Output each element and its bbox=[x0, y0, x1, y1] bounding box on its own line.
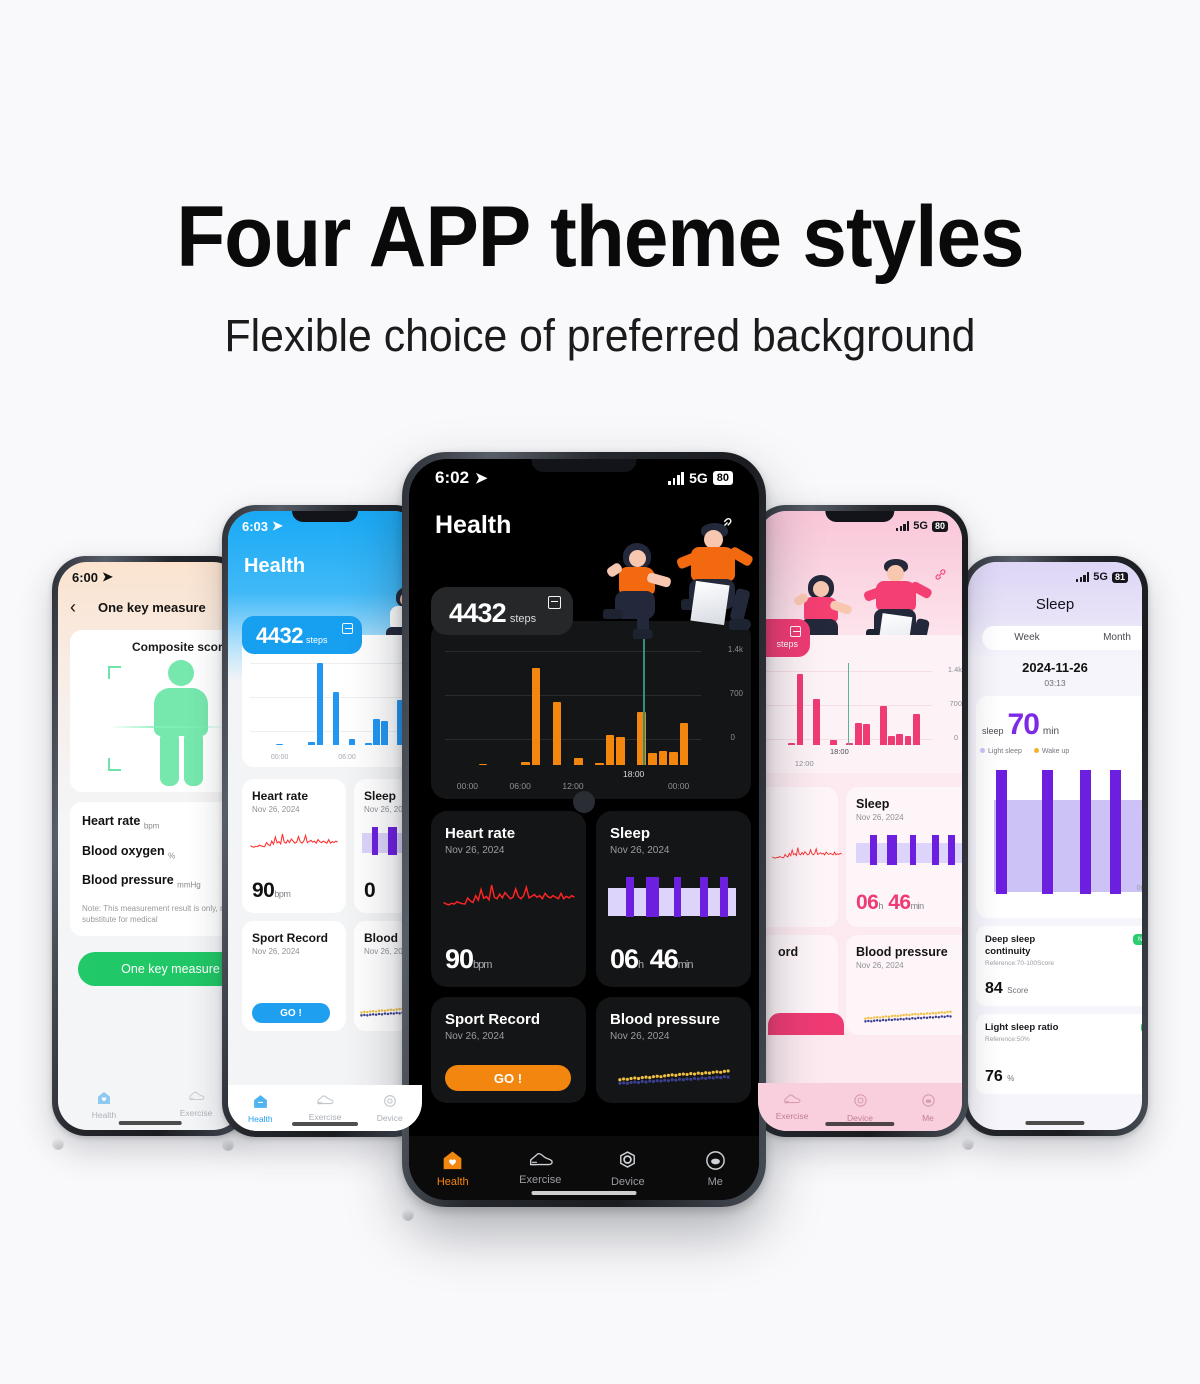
time-marker-line bbox=[643, 639, 645, 765]
card-value: 06h 46min bbox=[856, 891, 924, 915]
status-right: 5G 80 bbox=[896, 520, 948, 532]
camera-punch-hole bbox=[573, 791, 595, 813]
metric-unit: bpm bbox=[144, 822, 160, 831]
steps-bars bbox=[447, 657, 699, 765]
card-sport-record-partial[interactable]: ord bbox=[758, 935, 838, 1035]
signal-bars-icon bbox=[1076, 572, 1089, 582]
card-title: Heart rate bbox=[445, 825, 572, 842]
scan-line bbox=[108, 726, 228, 728]
value-number: 90 bbox=[445, 944, 473, 974]
bar bbox=[365, 743, 372, 745]
watch-icon bbox=[382, 1093, 398, 1109]
unit-hours: h bbox=[638, 959, 643, 971]
bar bbox=[888, 736, 895, 745]
metric-row: Blood pressure mmHg bbox=[82, 873, 242, 890]
sleep-bar bbox=[1042, 770, 1053, 894]
unit-minutes: min bbox=[678, 959, 693, 971]
steps-unit: steps bbox=[510, 613, 536, 625]
steps-chart[interactable]: 1.4k 700 0 18:00 00:00 06:00 12:00 00:00 bbox=[431, 621, 751, 799]
card-blood-pressure[interactable]: Blood pressure Nov 26, 2024 bbox=[846, 935, 962, 1035]
location-arrow-icon: ➤ bbox=[102, 569, 113, 585]
watch-icon bbox=[616, 1149, 639, 1172]
y-tick: 0 bbox=[954, 733, 958, 742]
sleep-bar bbox=[1110, 770, 1121, 894]
tab-label: Exercise bbox=[180, 1108, 213, 1118]
notch bbox=[292, 511, 358, 522]
card-blood-pressure[interactable]: Blood pressure Nov 26, 2024 bbox=[596, 997, 751, 1103]
card-title: Blood pressure bbox=[856, 945, 962, 959]
card-sport-record[interactable]: Sport Record Nov 26, 2024 GO ! bbox=[431, 997, 586, 1103]
metric-row: Heart rate bpm bbox=[82, 814, 242, 831]
row-value: 76 % bbox=[985, 1068, 1014, 1086]
shoe-icon bbox=[316, 1094, 334, 1108]
card-date: Nov 26, 2024 bbox=[445, 1031, 572, 1042]
tab-health[interactable]: Health bbox=[228, 1093, 293, 1124]
y-tick: 700 bbox=[949, 699, 962, 708]
card-sleep[interactable]: Sleep Nov 26, 2024 06h 46min bbox=[596, 811, 751, 987]
y-tick: 1.4k bbox=[728, 645, 743, 654]
home-heart-icon bbox=[441, 1149, 464, 1172]
bp-dots-icon bbox=[852, 1007, 962, 1029]
scan-bracket-icon bbox=[108, 666, 121, 679]
x-tick: 12:00 bbox=[547, 781, 600, 791]
battery-badge: 80 bbox=[713, 471, 733, 485]
shoe-icon bbox=[188, 1090, 205, 1104]
y-tick: 1.4k bbox=[948, 665, 962, 674]
row-title: Deep sleep continuity bbox=[985, 934, 1081, 958]
steps-unit: steps bbox=[776, 639, 798, 649]
metric-unit: mmHg bbox=[177, 881, 201, 890]
phone-reflection: 6:00 ➤ ‹ One key measure Composite score bbox=[52, 1138, 64, 1150]
x-tick: 00:00 bbox=[652, 781, 705, 791]
metric-name: Blood oxygen bbox=[82, 844, 165, 858]
go-button[interactable] bbox=[768, 1013, 844, 1035]
tab-health[interactable]: Health bbox=[58, 1090, 150, 1120]
chart-legend: Light sleep Wake up bbox=[980, 748, 1069, 755]
sleep-stage-chart: 06:50 bbox=[984, 766, 1142, 898]
bar bbox=[669, 752, 678, 765]
value-hours: 06 bbox=[610, 944, 638, 974]
segment-week[interactable]: Week bbox=[982, 626, 1072, 650]
tab-exercise[interactable]: Exercise bbox=[758, 1093, 826, 1121]
card-heart-rate[interactable]: Heart rate Nov 26, 2024 90bpm bbox=[242, 779, 346, 913]
tab-label: Health bbox=[437, 1176, 469, 1188]
value-number: 76 bbox=[985, 1068, 1003, 1085]
bar bbox=[637, 712, 646, 765]
card-title: Sport Record bbox=[445, 1011, 572, 1028]
bar bbox=[797, 674, 804, 745]
x-tick: 06:50 bbox=[1136, 885, 1142, 892]
home-indicator bbox=[825, 1122, 894, 1126]
steps-summary-pill[interactable]: 4432 steps bbox=[242, 616, 362, 654]
metric-card-grid: Heart rate Nov 26, 2024 90bpm Sleep Nov … bbox=[242, 779, 422, 1031]
sleep-summary: sleep 70 min bbox=[982, 708, 1059, 742]
row-value: 84 Score bbox=[985, 980, 1028, 998]
bar bbox=[479, 764, 488, 766]
signal-bars-icon bbox=[668, 472, 684, 485]
page-title: Health bbox=[244, 555, 305, 578]
tab-label: Me bbox=[708, 1176, 723, 1188]
one-key-measure-button[interactable]: One key measure bbox=[78, 952, 242, 986]
card-date: Nov 26, 2024 bbox=[856, 961, 962, 970]
home-indicator bbox=[532, 1191, 637, 1195]
legend-light-sleep: Light sleep bbox=[980, 748, 1022, 755]
shoe-icon bbox=[783, 1093, 801, 1107]
x-axis-ticks: 00:00 06:00 12:00 00:00 bbox=[441, 781, 705, 791]
tab-me[interactable]: Me bbox=[894, 1092, 962, 1123]
status-badge: High bbox=[1141, 1022, 1142, 1033]
notch bbox=[532, 459, 637, 472]
segment-month[interactable]: Month bbox=[1072, 626, 1142, 650]
measurement-note: Note: This measurement result is only, n… bbox=[82, 903, 242, 926]
export-icon[interactable] bbox=[790, 626, 801, 637]
signal-bars-icon bbox=[896, 521, 909, 531]
phone-reflection: 6:02 ➤ 5G 80 Health bbox=[402, 1209, 414, 1221]
tab-device[interactable]: Device bbox=[584, 1149, 672, 1188]
card-heart-rate-partial[interactable] bbox=[758, 787, 838, 927]
notch bbox=[825, 511, 894, 522]
status-time: 6:02 bbox=[435, 468, 469, 488]
card-date: Nov 26, 2024 bbox=[252, 805, 336, 814]
value-minutes: 46 bbox=[650, 944, 678, 974]
card-title: Sleep bbox=[610, 825, 737, 842]
card-value: 90bpm bbox=[445, 944, 491, 975]
sleep-bars-icon bbox=[608, 877, 736, 917]
legend-label: Light sleep bbox=[988, 748, 1022, 755]
period-segmented-control[interactable]: Week Month bbox=[982, 626, 1142, 650]
person-icon bbox=[920, 1092, 937, 1109]
steps-bars bbox=[252, 653, 422, 745]
heart-rate-line-icon bbox=[772, 841, 842, 867]
selected-date: 2024-11-26 bbox=[968, 660, 1142, 675]
tab-health[interactable]: Health bbox=[409, 1149, 497, 1188]
tab-label: Device bbox=[377, 1113, 403, 1123]
composite-score-card[interactable]: Composite score bbox=[70, 630, 242, 792]
sleep-metrics-list: Deep sleep continuity Reference:70-100Sc… bbox=[976, 926, 1142, 1094]
x-tick bbox=[879, 759, 929, 768]
bar bbox=[595, 763, 604, 765]
sleep-value: 70 bbox=[1008, 708, 1039, 742]
home-heart-icon bbox=[96, 1090, 112, 1106]
battery-badge: 80 bbox=[932, 521, 948, 532]
metric-name: Blood pressure bbox=[82, 873, 174, 887]
heart-rate-line-icon bbox=[250, 825, 338, 859]
metric-card-grid: Sleep Nov 26, 2024 06h 46min bbox=[758, 787, 962, 1035]
card-date: Nov 26, 2024 bbox=[856, 813, 962, 822]
bar bbox=[381, 721, 388, 745]
bar bbox=[648, 753, 657, 765]
y-tick: 0 bbox=[731, 733, 735, 742]
card-date: Nov 26, 2024 bbox=[252, 947, 336, 956]
phone-mockup-pink-theme: 5G 80 bbox=[752, 505, 968, 1137]
phone-mockup-dark-theme: 6:02 ➤ 5G 80 Health bbox=[402, 452, 766, 1207]
promo-page: Four APP theme styles Flexible choice of… bbox=[0, 0, 1200, 1384]
steps-summary-pill[interactable]: 4432 steps bbox=[431, 587, 573, 635]
page-title: Sleep bbox=[968, 596, 1142, 613]
card-value: 06h 46min bbox=[610, 944, 692, 975]
x-tick: 06:00 bbox=[313, 754, 380, 761]
phone-mockup-blue-theme: 6:03 ➤ Health 4432 steps bbox=[222, 505, 428, 1137]
network-label: 5G bbox=[913, 520, 928, 532]
row-reference: Reference:50% bbox=[985, 1036, 1142, 1043]
bar bbox=[913, 714, 920, 745]
network-label: 5G bbox=[689, 470, 708, 486]
unit-hours: h bbox=[878, 901, 883, 911]
bottom-tab-bar: Health Exercise bbox=[58, 1090, 242, 1120]
card-title: Sport Record bbox=[252, 931, 336, 945]
row-title: Light sleep ratio bbox=[985, 1022, 1081, 1034]
card-title: Blood pressure bbox=[610, 1011, 737, 1028]
status-badge: Normal bbox=[1133, 934, 1142, 945]
tab-exercise[interactable]: Exercise bbox=[293, 1094, 358, 1122]
bar bbox=[333, 692, 340, 745]
marker-label: 18:00 bbox=[830, 747, 849, 756]
value-number: 84 bbox=[985, 980, 1003, 997]
tab-label: Exercise bbox=[776, 1111, 809, 1121]
card-sleep[interactable]: Sleep Nov 26, 2024 06h 46min bbox=[846, 787, 962, 927]
value-number: 90 bbox=[252, 879, 274, 902]
sleep-bars-icon bbox=[856, 835, 962, 865]
export-icon[interactable] bbox=[548, 596, 561, 609]
card-date: Nov 26, 2024 bbox=[610, 1031, 737, 1042]
tab-device[interactable]: Device bbox=[357, 1093, 422, 1123]
home-indicator bbox=[119, 1121, 182, 1125]
page-subheadline: Flexible choice of preferred background bbox=[30, 310, 1170, 362]
value-unit: % bbox=[1007, 1074, 1014, 1083]
x-tick: 00:00 bbox=[441, 781, 494, 791]
card-title: Sleep bbox=[856, 797, 962, 811]
bar bbox=[349, 739, 356, 745]
location-arrow-icon: ➤ bbox=[272, 518, 283, 534]
status-bar: 6:00 ➤ bbox=[58, 562, 242, 592]
status-right: 5G 81 bbox=[1076, 571, 1128, 583]
value-hours: 06 bbox=[856, 891, 878, 914]
bar bbox=[521, 762, 530, 765]
page-title: One key measure bbox=[98, 600, 206, 615]
bar bbox=[788, 743, 795, 745]
bar bbox=[896, 734, 903, 745]
tab-label: Me bbox=[922, 1113, 934, 1123]
value-unit: bpm bbox=[473, 959, 491, 971]
tab-me[interactable]: Me bbox=[672, 1149, 760, 1188]
status-right: 5G 80 bbox=[668, 470, 733, 486]
metric-card-grid: Heart rate Nov 26, 2024 90bpm Sleep Nov … bbox=[431, 811, 751, 1103]
bar bbox=[317, 663, 324, 745]
value-unit: Score bbox=[1007, 986, 1028, 995]
bar bbox=[373, 719, 380, 745]
value-minutes: 46 bbox=[888, 891, 910, 914]
marker-label: 18:00 bbox=[623, 769, 644, 779]
card-heart-rate[interactable]: Heart rate Nov 26, 2024 90bpm bbox=[431, 811, 586, 987]
sleep-bar bbox=[1080, 770, 1091, 894]
tab-label: Exercise bbox=[519, 1174, 561, 1186]
network-label: 5G bbox=[1093, 571, 1108, 583]
value-unit: bpm bbox=[274, 889, 290, 899]
bar bbox=[616, 737, 625, 765]
phone-reflection: 6:03 ➤ Health 4432 steps bbox=[222, 1139, 234, 1151]
scan-bracket-icon bbox=[108, 758, 121, 771]
battery-badge: 81 bbox=[1112, 572, 1128, 583]
bar bbox=[659, 751, 668, 765]
steps-chart[interactable]: 00:00 06:00 12:00 bbox=[242, 635, 422, 767]
page-headline: Four APP theme styles bbox=[42, 188, 1158, 287]
phone-mockup-green-theme: 6:00 ➤ ‹ One key measure Composite score bbox=[52, 556, 248, 1136]
tab-label: Health bbox=[248, 1114, 273, 1124]
metric-row: Blood oxygen % bbox=[82, 844, 242, 861]
sleep-label: sleep bbox=[982, 726, 1004, 736]
card-title-partial: ord bbox=[778, 945, 828, 959]
page-title: Health bbox=[435, 511, 511, 540]
row-reference: Reference:70-100Score bbox=[985, 960, 1142, 967]
status-time: 6:00 bbox=[72, 570, 98, 585]
body-silhouette-icon bbox=[154, 660, 208, 786]
tab-label: Device bbox=[847, 1113, 873, 1123]
steps-unit: steps bbox=[306, 635, 328, 645]
card-value: 0 bbox=[364, 879, 375, 903]
card-title: Heart rate bbox=[252, 789, 336, 803]
chevron-left-icon[interactable]: ‹ bbox=[70, 597, 76, 618]
tab-exercise[interactable]: Exercise bbox=[497, 1151, 585, 1186]
bar bbox=[532, 668, 541, 765]
bp-dots-icon bbox=[604, 1065, 744, 1093]
export-icon[interactable] bbox=[342, 623, 353, 634]
x-tick: 12:00 bbox=[780, 759, 830, 768]
bar bbox=[308, 742, 315, 745]
sleep-bar bbox=[996, 770, 1007, 894]
person-icon bbox=[704, 1149, 727, 1172]
card-sport-record[interactable]: Sport Record Nov 26, 2024 GO ! bbox=[242, 921, 346, 1031]
bar bbox=[574, 758, 583, 765]
legend-wake-up: Wake up bbox=[1034, 748, 1069, 755]
x-tick: 06:00 bbox=[494, 781, 547, 791]
steps-bars bbox=[758, 665, 928, 745]
bar bbox=[276, 744, 283, 746]
unit-minutes: min bbox=[911, 901, 924, 911]
legend-label: Wake up bbox=[1042, 748, 1069, 755]
bar bbox=[880, 706, 887, 745]
bar bbox=[863, 724, 870, 745]
metric-name: Heart rate bbox=[82, 814, 140, 828]
composite-score-label: Composite score bbox=[132, 640, 229, 654]
location-arrow-icon: ➤ bbox=[475, 469, 488, 487]
sleep-unit: min bbox=[1043, 726, 1059, 737]
bar bbox=[855, 723, 862, 745]
go-button[interactable]: GO ! bbox=[252, 1003, 330, 1023]
watch-icon bbox=[852, 1092, 869, 1109]
bar bbox=[905, 736, 912, 745]
row-light-sleep-ratio[interactable]: Light sleep ratio Reference:50% 76 % Hig… bbox=[976, 1014, 1142, 1094]
heart-rate-line-icon bbox=[443, 873, 575, 921]
x-axis-ticks: 00:00 06:00 12:00 bbox=[242, 754, 422, 761]
value-number: 0 bbox=[364, 879, 375, 902]
bar bbox=[830, 740, 837, 745]
card-date: Nov 26, 2024 bbox=[445, 845, 572, 856]
bar bbox=[606, 735, 615, 765]
x-tick: 00:00 bbox=[246, 754, 313, 761]
nav-bar: ‹ One key measure bbox=[58, 592, 242, 622]
tab-label: Health bbox=[92, 1110, 117, 1120]
status-time: 6:03 bbox=[242, 519, 268, 534]
bar bbox=[813, 699, 820, 745]
time-marker-line bbox=[848, 663, 849, 745]
sleep-summary-card[interactable]: sleep 70 min Light sleep Wake up 06:50 bbox=[976, 696, 1142, 918]
home-indicator bbox=[1025, 1121, 1084, 1125]
x-axis-ticks: 06:00 12:00 bbox=[758, 759, 928, 768]
card-value: 90bpm bbox=[252, 879, 290, 903]
row-deep-sleep-continuity[interactable]: Deep sleep continuity Reference:70-100Sc… bbox=[976, 926, 1142, 1006]
selected-time: 03:13 bbox=[968, 678, 1142, 688]
tab-label: Device bbox=[611, 1176, 645, 1188]
card-date: Nov 26, 2024 bbox=[610, 845, 737, 856]
steps-value: 4432 bbox=[256, 623, 303, 649]
metric-unit: % bbox=[168, 851, 175, 860]
bar bbox=[553, 702, 562, 765]
metrics-card: Heart rate bpm Blood oxygen % Blood pres… bbox=[70, 802, 242, 936]
home-heart-icon bbox=[252, 1093, 269, 1110]
runner-illustration-male bbox=[665, 523, 759, 643]
tab-device[interactable]: Device bbox=[826, 1092, 894, 1123]
status-bar: 5G 81 bbox=[968, 562, 1142, 592]
go-button[interactable]: GO ! bbox=[445, 1065, 571, 1091]
steps-value: 4432 bbox=[449, 598, 506, 629]
tab-label: Exercise bbox=[309, 1112, 342, 1122]
shoe-icon bbox=[528, 1151, 553, 1170]
home-indicator bbox=[292, 1122, 358, 1126]
phone-mockup-purple-theme: 5G 81 Sleep Week Month 2024-11-26 03:13 … bbox=[962, 556, 1148, 1136]
bar bbox=[680, 723, 689, 765]
y-tick: 700 bbox=[730, 689, 743, 698]
phone-reflection: 5G 81 Sleep Week Month 2024-11-26 03:13 … bbox=[962, 1138, 974, 1150]
